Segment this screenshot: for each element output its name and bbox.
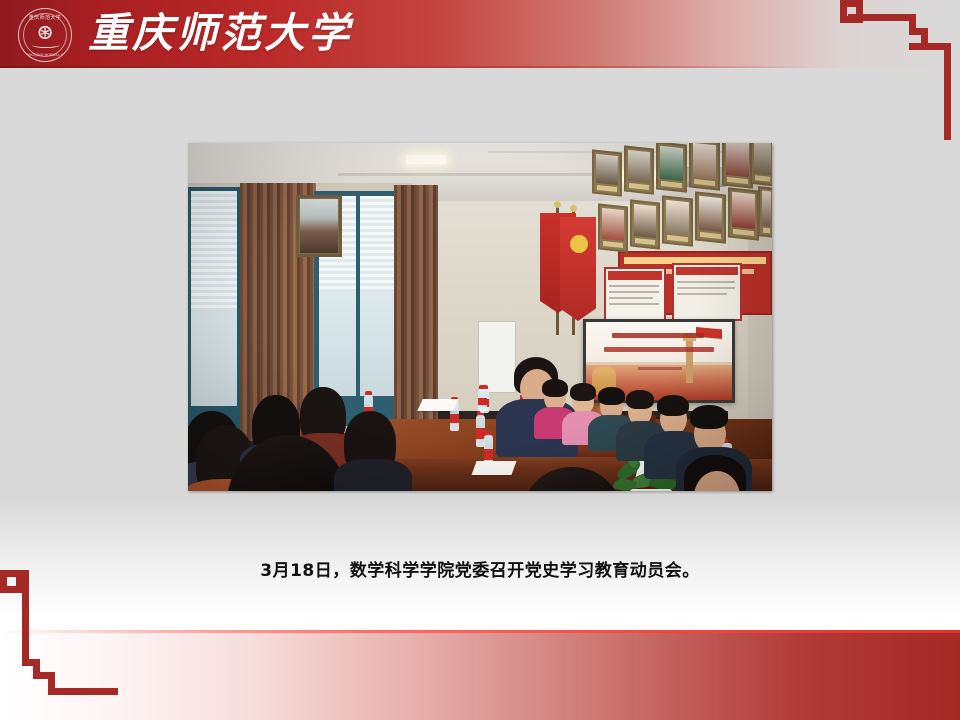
photo-vignette <box>188 143 772 491</box>
ornament-bar <box>909 14 916 28</box>
header-banner: 重庆师范大学 ⊛ CHONGQING NORMAL UNIVERSITY 重庆师… <box>0 0 960 68</box>
slide-root: 重庆师范大学 ⊛ CHONGQING NORMAL UNIVERSITY 重庆师… <box>0 0 960 720</box>
seal-bottom-text: CHONGQING NORMAL UNIVERSITY <box>21 53 69 57</box>
ornament-bar <box>848 14 916 21</box>
university-seal-icon: 重庆师范大学 ⊛ CHONGQING NORMAL UNIVERSITY <box>18 8 72 62</box>
ornament-bar <box>22 570 29 666</box>
ornament-bar <box>48 688 118 695</box>
seal-book-shape <box>32 42 60 48</box>
corner-ornament-top-right <box>840 0 960 140</box>
footer-band <box>0 630 960 720</box>
university-name-title: 重庆师范大学 <box>88 7 352 59</box>
corner-ornament-bottom-left <box>0 570 130 720</box>
ornament-bar <box>944 43 951 140</box>
ornament-square <box>0 570 23 593</box>
photo-caption: 3月18日，数学科学学院党委召开党史学习教育动员会。 <box>0 556 960 581</box>
meeting-photo <box>188 143 772 491</box>
seal-center-glyph: ⊛ <box>19 22 71 43</box>
